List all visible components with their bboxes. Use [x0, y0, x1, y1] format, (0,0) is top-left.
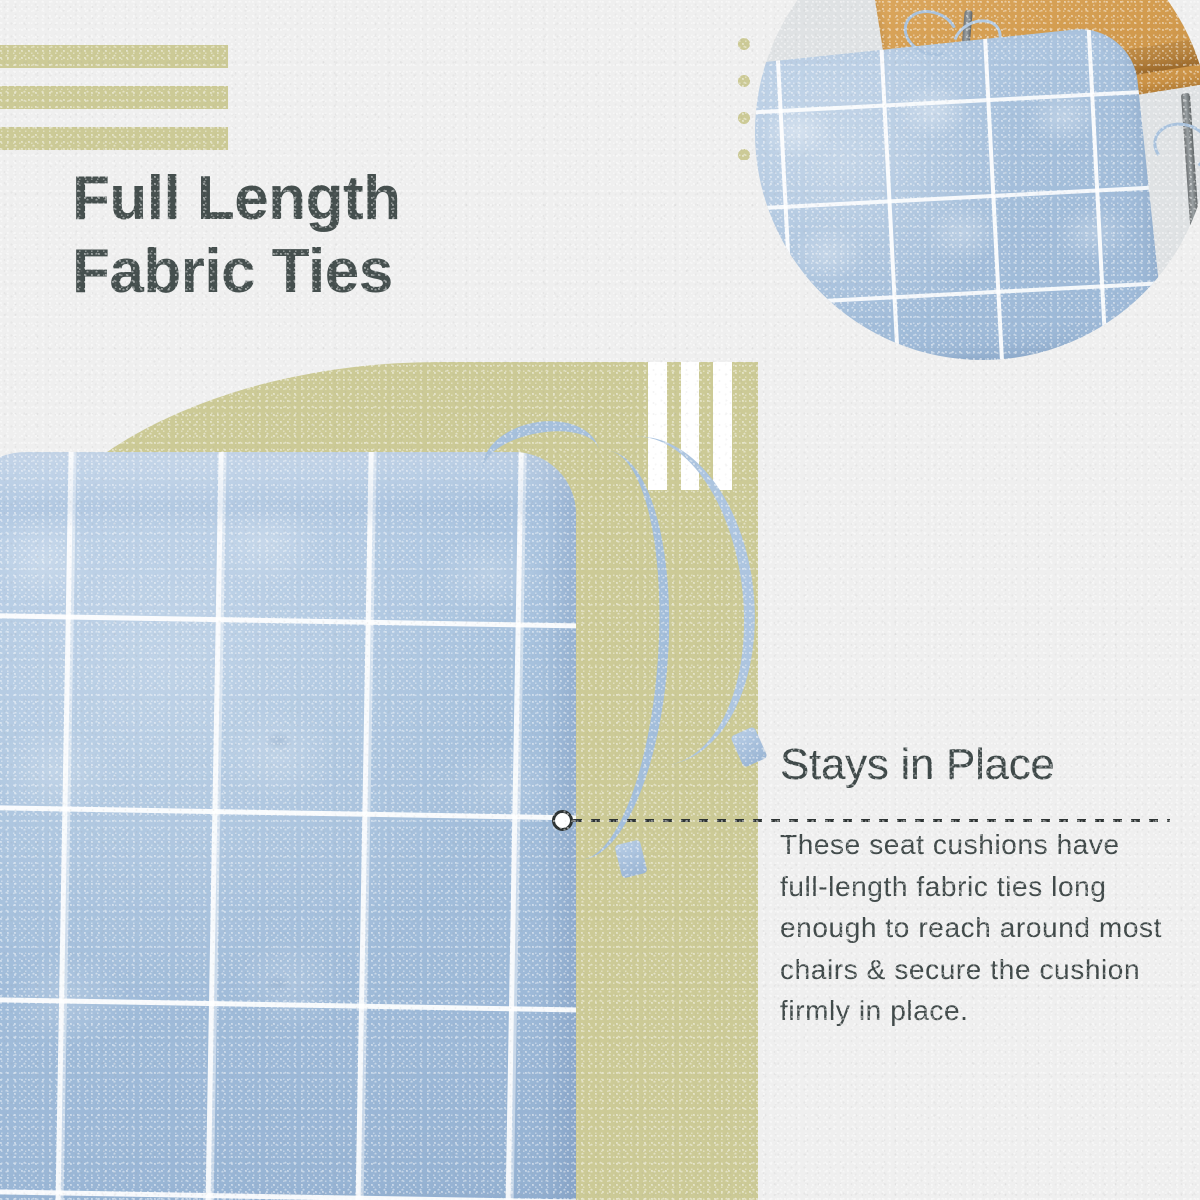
decor-bar-3 — [0, 127, 228, 150]
headline: Full Length Fabric Ties — [72, 162, 401, 308]
inset-photo-circle — [755, 0, 1200, 360]
callout-block: Stays in Place These seat cushions have … — [780, 742, 1180, 1031]
chair-leg-right — [1181, 93, 1200, 268]
headline-line-2: Fabric Ties — [72, 235, 401, 308]
decor-bar-2 — [0, 86, 228, 109]
fabric-ties-group — [440, 400, 770, 880]
inset-seat-cushion — [755, 23, 1166, 360]
headline-line-1: Full Length — [72, 162, 401, 235]
decor-stripe-bars — [0, 45, 228, 150]
callout-marker-dot — [552, 810, 573, 831]
callout-title: Stays in Place — [780, 742, 1180, 788]
inset-tie-bow-right — [1148, 117, 1200, 176]
inset-photo-frame — [740, 0, 1200, 362]
fabric-tie-end-1 — [730, 726, 768, 768]
marketing-infographic: Full Length Fabric Ties — [0, 0, 1200, 1200]
fabric-tie-end-2 — [614, 839, 647, 878]
decor-bar-1 — [0, 45, 228, 68]
callout-body: These seat cushions have full-length fab… — [780, 824, 1172, 1031]
